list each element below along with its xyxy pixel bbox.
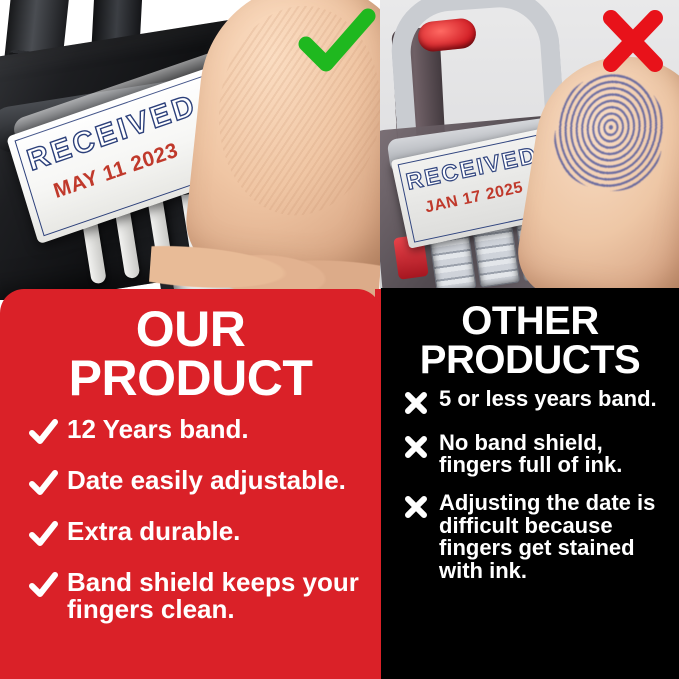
x-icon	[403, 494, 429, 520]
check-icon	[28, 519, 58, 549]
bullet-text: 12 Years band.	[67, 416, 249, 443]
bullet-text: 5 or less years band.	[439, 388, 657, 410]
list-item: Adjusting the date is difficult because …	[403, 492, 673, 582]
our-title-line2: PRODUCT	[10, 354, 371, 403]
check-icon	[296, 6, 378, 81]
our-product-title: OUR PRODUCT	[0, 289, 381, 402]
x-icon	[403, 434, 429, 460]
comparison-infographic: RECEIVED MAY 11 2023	[0, 0, 679, 679]
bullet-text: Adjusting the date is difficult because …	[439, 492, 673, 582]
list-item: No band shield, fingers full of ink.	[403, 432, 673, 477]
our-title-line1: OUR	[10, 305, 371, 354]
other-title-line2: PRODUCTS	[387, 341, 673, 380]
bullet-text: No band shield, fingers full of ink.	[439, 432, 673, 477]
bullet-text: Extra durable.	[67, 518, 240, 545]
x-icon	[597, 6, 669, 81]
list-item: Extra durable.	[28, 518, 371, 549]
other-title-line1: OTHER	[387, 302, 673, 341]
our-product-bullet-list: 12 Years band. Date easily adjustable. E…	[0, 416, 381, 622]
check-icon	[28, 570, 58, 600]
bullet-text: Date easily adjustable.	[67, 467, 346, 494]
check-icon	[28, 468, 58, 498]
photo-strip: RECEIVED MAY 11 2023	[0, 0, 679, 300]
list-item: 5 or less years band.	[403, 388, 673, 416]
our-product-panel: OUR PRODUCT 12 Years band. Date easily a…	[0, 289, 381, 679]
our-product-photo: RECEIVED MAY 11 2023	[0, 0, 380, 300]
bullet-text: Band shield keeps your fingers clean.	[67, 569, 371, 622]
other-products-title: OTHER PRODUCTS	[381, 288, 679, 380]
list-item: 12 Years band.	[28, 416, 371, 447]
other-products-photo: RECEIVED JAN 17 2025	[380, 0, 679, 300]
list-item: Date easily adjustable.	[28, 467, 371, 498]
other-products-bullet-list: 5 or less years band. No band shield, fi…	[381, 388, 679, 583]
check-icon	[28, 417, 58, 447]
other-products-panel: OTHER PRODUCTS 5 or less years band. No …	[381, 288, 679, 679]
x-icon	[403, 390, 429, 416]
list-item: Band shield keeps your fingers clean.	[28, 569, 371, 622]
